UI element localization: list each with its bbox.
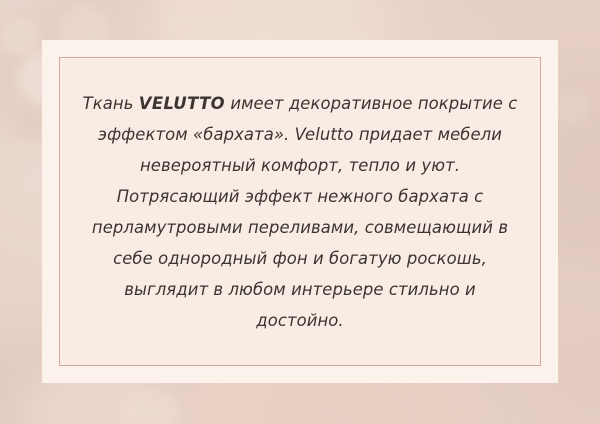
brand-name-plain: Velutto — [295, 125, 354, 144]
content-card: Ткань VELUTTO имеет декоративное покрыти… — [42, 40, 558, 383]
watercolor-bubble — [120, 392, 180, 424]
watercolor-blob — [255, 380, 425, 424]
watercolor-bubble — [0, 18, 40, 56]
text-before-brand: Ткань — [83, 94, 139, 113]
description-paragraph: Ткань VELUTTO имеет декоративное покрыти… — [60, 88, 540, 336]
card-inner-border: Ткань VELUTTO имеет декоративное покрыти… — [59, 57, 541, 366]
brand-name-bold: VELUTTO — [139, 94, 225, 113]
text-tail: придает мебели невероятный комфорт, тепл… — [92, 125, 508, 330]
poster-canvas: Ткань VELUTTO имеет декоративное покрыти… — [0, 0, 600, 424]
watercolor-bubble — [556, 92, 590, 124]
